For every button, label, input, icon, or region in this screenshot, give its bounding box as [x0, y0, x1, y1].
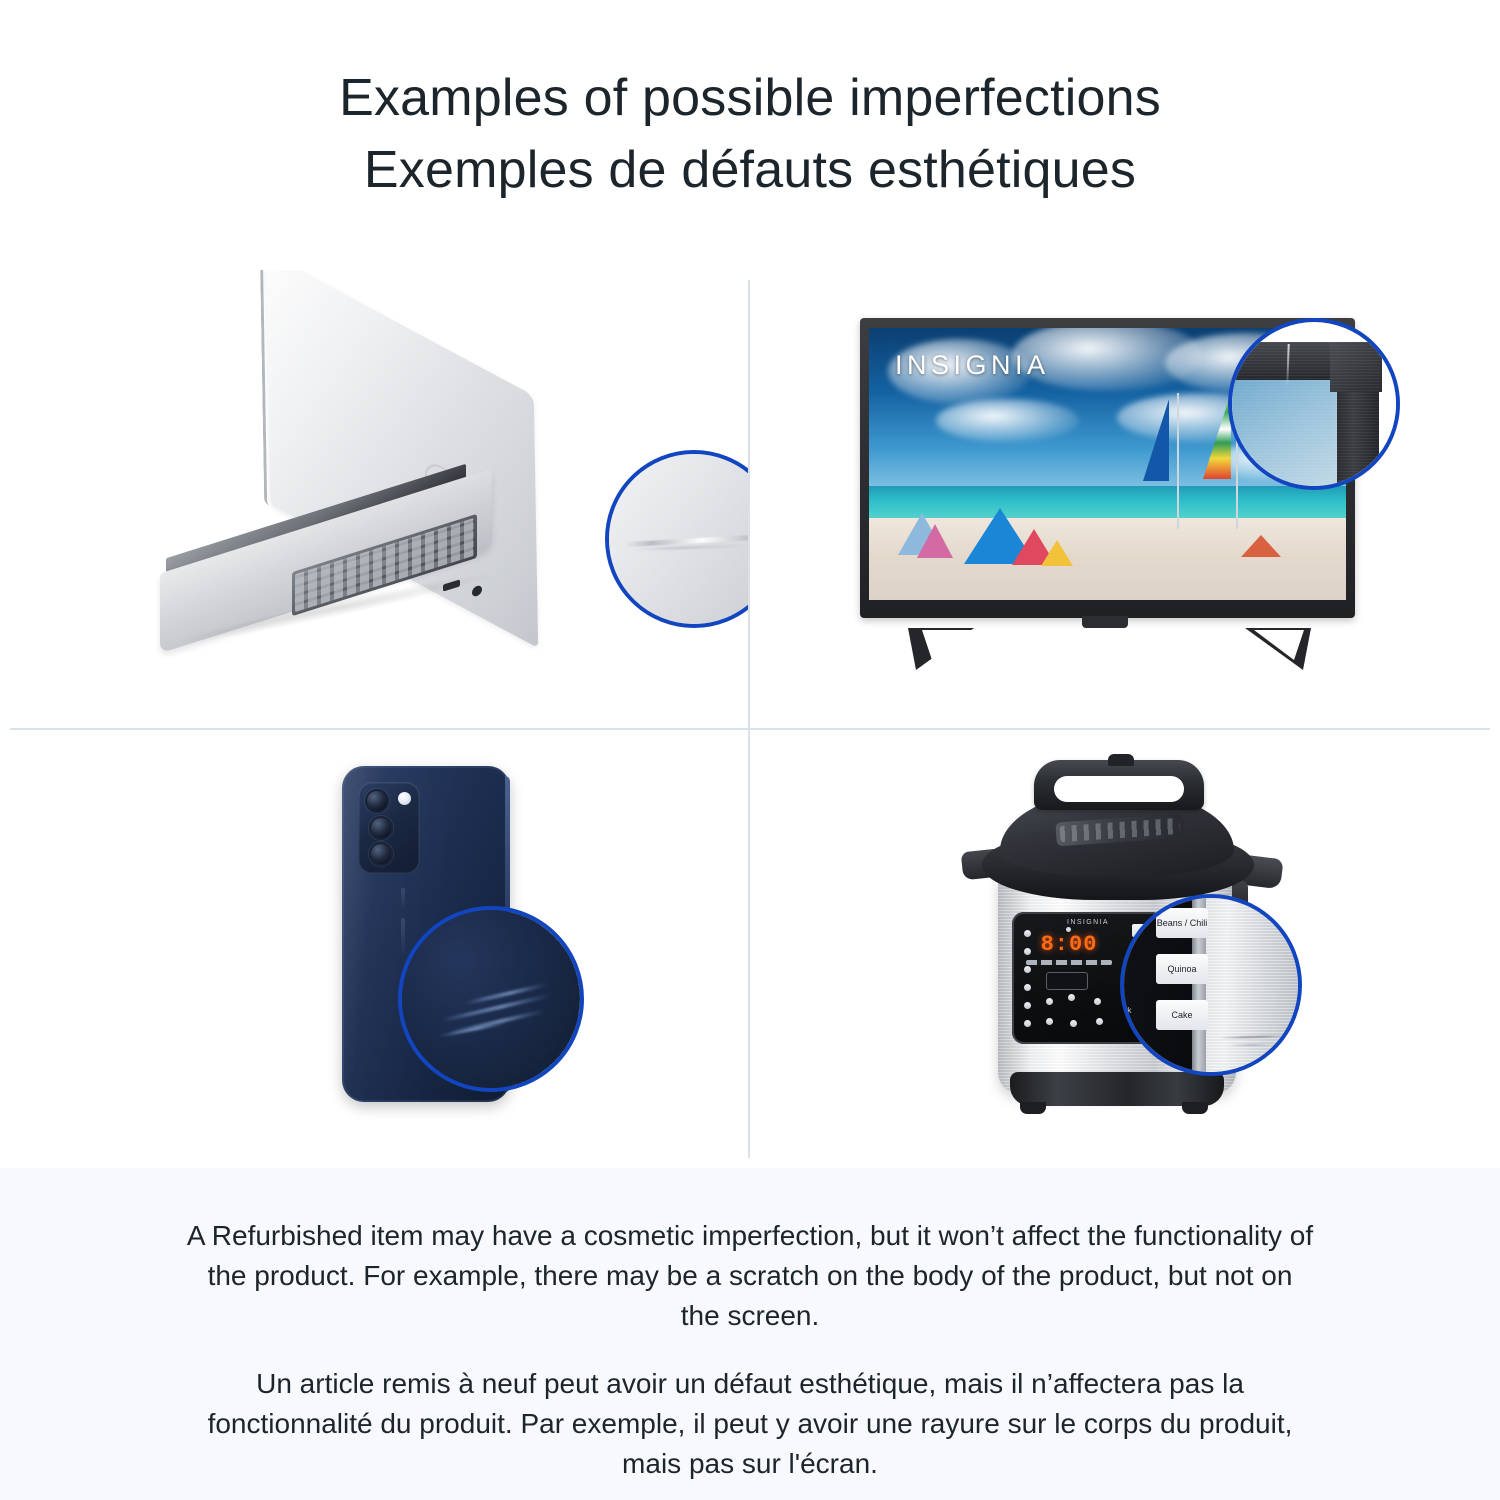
- cooker-led-display: 8:00: [1038, 932, 1100, 956]
- cooker-base: [1010, 1072, 1224, 1106]
- cooker-round-button[interactable]: [1094, 998, 1101, 1005]
- cooker-round-button[interactable]: [1024, 1002, 1031, 1009]
- phone-power-button: [401, 888, 405, 910]
- footer-note-panel: A Refurbished item may have a cosmetic i…: [0, 1168, 1500, 1500]
- product-example-grid: INSIGNIA: [0, 270, 1500, 1168]
- panel-smartphone: [0, 730, 748, 1168]
- tv-screen-brand-logo: INSIGNIA: [895, 350, 1050, 381]
- smartphone-illustration: [280, 760, 580, 1140]
- tv-scene-cloud: [936, 399, 1079, 443]
- cooker-round-button[interactable]: [1046, 998, 1053, 1005]
- phone-camera-lens: [365, 789, 389, 813]
- title-line-english: Examples of possible imperfections: [0, 62, 1500, 134]
- cooker-foot-right: [1182, 1102, 1208, 1114]
- panel-television: INSIGNIA: [750, 270, 1500, 728]
- cooker-foot-left: [1020, 1102, 1046, 1114]
- cooker-secondary-display: [1046, 972, 1088, 990]
- laptop-magnifier-circle: [605, 450, 748, 628]
- tv-scene-sail-blue: [1143, 399, 1169, 481]
- phone-camera-lens: [369, 842, 393, 866]
- panel-pressure-cooker: INSIGNIA 8:00 Start: [750, 730, 1500, 1168]
- cooker-round-button[interactable]: [1046, 1018, 1053, 1025]
- television-illustration: INSIGNIA: [860, 318, 1370, 688]
- cooker-round-button[interactable]: [1024, 930, 1031, 937]
- cooker-round-button[interactable]: [1068, 994, 1075, 1001]
- tv-center-foot: [1082, 616, 1128, 628]
- tv-scene-kite: [1241, 535, 1281, 557]
- cooker-round-button[interactable]: [1024, 948, 1031, 955]
- laptop-illustration: [150, 325, 620, 665]
- cooker-round-button[interactable]: [1096, 1018, 1103, 1025]
- cooker-lens-button-beans[interactable]: Beans / Chili: [1156, 908, 1208, 938]
- panel-laptop: [0, 270, 748, 728]
- pressure-cooker-illustration: INSIGNIA 8:00 Start: [960, 754, 1300, 1144]
- tv-scene-kite: [1041, 540, 1073, 566]
- phone-camera-module: [358, 782, 420, 874]
- phone-camera-lens: [369, 816, 393, 840]
- tv-scene-mast: [1177, 393, 1179, 529]
- cooker-steam-valve-icon: [1108, 754, 1134, 766]
- cooker-lens-button-quinoa[interactable]: Quinoa: [1156, 954, 1208, 984]
- refurbished-imperfections-infographic: Examples of possible imperfections Exemp…: [0, 0, 1500, 1500]
- tv-leg-left-cutout: [922, 630, 972, 660]
- cooker-round-button[interactable]: [1024, 966, 1031, 973]
- footer-note-french: Un article remis à neuf peut avoir un dé…: [185, 1364, 1315, 1484]
- cooker-lens-button-cake[interactable]: Cake: [1156, 1000, 1208, 1030]
- cooker-round-button[interactable]: [1024, 1020, 1031, 1027]
- cooker-lid-handle-opening: [1054, 776, 1184, 802]
- tv-scene-kite: [917, 524, 953, 558]
- cooker-magnifier-circle: lay e Cook Beans / Chili Quinoa Cake: [1120, 894, 1302, 1076]
- title-line-french: Exemples de défauts esthétiques: [0, 134, 1500, 206]
- cooker-round-button[interactable]: [1070, 1020, 1077, 1027]
- tv-lens-bezel-texture: [1228, 342, 1380, 490]
- tv-leg-right-cutout: [1254, 630, 1304, 660]
- page-title: Examples of possible imperfections Exemp…: [0, 62, 1500, 206]
- phone-flash-icon: [398, 792, 411, 805]
- phone-magnifier-circle: [398, 906, 584, 1092]
- tv-magnifier-circle: [1228, 318, 1400, 490]
- footer-note-english: A Refurbished item may have a cosmetic i…: [185, 1216, 1315, 1336]
- cooker-round-button[interactable]: [1024, 984, 1031, 991]
- cooker-mode-strip: [1026, 960, 1112, 965]
